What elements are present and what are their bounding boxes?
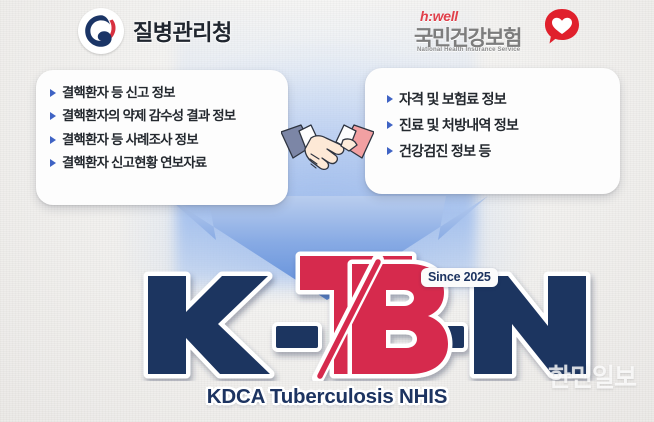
kdca-taegeuk-icon bbox=[78, 8, 124, 54]
organization-logo-row: 질병관리청 h:well 국민건강보험 National Health Insu… bbox=[0, 0, 654, 64]
bullet-triangle-icon bbox=[387, 121, 393, 129]
nhis-heart-icon bbox=[542, 7, 582, 47]
list-item: 건강검진 정보 등 bbox=[387, 142, 620, 161]
bullet-triangle-icon bbox=[387, 95, 393, 103]
kdca-name-label: 질병관리청 bbox=[133, 15, 232, 47]
list-item-label: 진료 및 처방내역 정보 bbox=[399, 116, 518, 135]
nhis-data-card: 자격 및 보험료 정보 진료 및 처방내역 정보 건강검진 정보 등 bbox=[365, 68, 620, 194]
kdca-logo: 질병관리청 bbox=[78, 8, 232, 54]
list-item-label: 결핵환자의 약제 감수성 결과 정보 bbox=[62, 107, 235, 125]
list-item: 진료 및 처방내역 정보 bbox=[387, 116, 620, 135]
list-item: 결핵환자의 약제 감수성 결과 정보 bbox=[50, 107, 288, 125]
bullet-triangle-icon bbox=[50, 89, 56, 97]
bullet-triangle-icon bbox=[50, 136, 56, 144]
nhis-logo: h:well 국민건강보험 National Health Insurance … bbox=[412, 6, 587, 62]
handshake-icon bbox=[281, 118, 374, 178]
list-item: 결핵환자 등 사례조사 정보 bbox=[50, 131, 288, 149]
infographic-canvas: 질병관리청 h:well 국민건강보험 National Health Insu… bbox=[0, 0, 654, 422]
list-item-label: 자격 및 보험료 정보 bbox=[399, 90, 506, 109]
nhis-data-list: 자격 및 보험료 정보 진료 및 처방내역 정보 건강검진 정보 등 bbox=[365, 68, 620, 161]
list-item-label: 결핵환자 신고현황 연보자료 bbox=[62, 154, 206, 172]
since-badge: Since 2025 bbox=[421, 268, 498, 287]
bullet-triangle-icon bbox=[50, 159, 56, 167]
bullet-triangle-icon bbox=[387, 147, 393, 155]
list-item: 결핵환자 등 신고 정보 bbox=[50, 84, 288, 102]
list-item-label: 건강검진 정보 등 bbox=[399, 142, 491, 161]
list-item: 결핵환자 신고현황 연보자료 bbox=[50, 154, 288, 172]
list-item: 자격 및 보험료 정보 bbox=[387, 90, 620, 109]
list-item-label: 결핵환자 등 사례조사 정보 bbox=[62, 131, 198, 149]
list-item-label: 결핵환자 등 신고 정보 bbox=[62, 84, 175, 102]
nhis-subtitle-label: National Health Insurance Service bbox=[417, 47, 520, 53]
kdca-data-card: 결핵환자 등 신고 정보 결핵환자의 약제 감수성 결과 정보 결핵환자 등 사… bbox=[36, 70, 288, 205]
bullet-triangle-icon bbox=[50, 112, 56, 120]
kdca-data-list: 결핵환자 등 신고 정보 결핵환자의 약제 감수성 결과 정보 결핵환자 등 사… bbox=[36, 70, 288, 172]
watermark-label: 한민일보 bbox=[548, 358, 636, 394]
